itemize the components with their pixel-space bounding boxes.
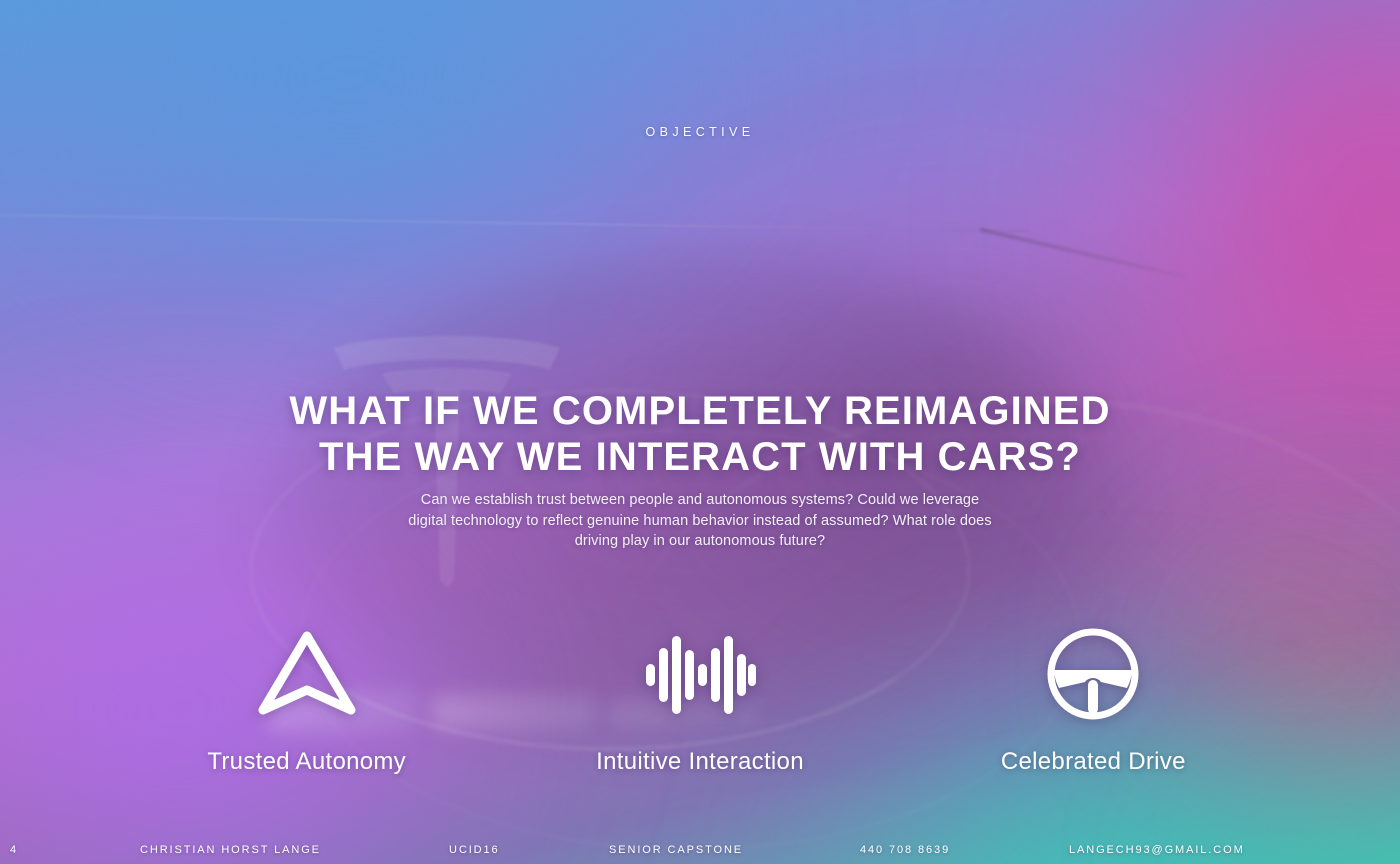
footer-course-code: UCID16 [449,844,500,856]
footer-email: LANGECH93@GMAIL.COM [1069,844,1245,856]
page-number: 4 [10,844,16,856]
pillar-label: Intuitive Interaction [596,748,804,776]
section-eyebrow-label: OBJECTIVE [0,125,1400,139]
slide-footer: 4 CHRISTIAN HORST LANGE UCID16 SENIOR CA… [0,835,1400,864]
pillar-trusted-autonomy: Trusted Autonomy [110,628,503,776]
car-hood-edge-line [0,214,1030,232]
presentation-slide: OBJECTIVE WHAT IF WE COMPLETELY REIMAGIN… [0,0,1400,864]
pillar-label: Trusted Autonomy [207,748,406,776]
navigation-arrow-icon [255,628,359,720]
car-windshield-edge-line [980,228,1185,278]
steering-wheel-icon [1045,628,1141,720]
pillar-intuitive-interaction: Intuitive Interaction [503,628,896,776]
footer-project-type: SENIOR CAPSTONE [609,844,743,856]
slide-subtext: Can we establish trust between people an… [400,490,1000,552]
pillar-celebrated-drive: Celebrated Drive [897,628,1290,776]
pillar-row: Trusted Autonomy [0,628,1400,776]
pillar-label: Celebrated Drive [1001,748,1186,776]
audio-waveform-icon [644,628,756,720]
footer-phone: 440 708 8639 [860,844,950,856]
headline-line-2: THE WAY WE INTERACT WITH CARS? [0,434,1400,480]
footer-author-name: CHRISTIAN HORST LANGE [140,844,321,856]
headline-line-1: WHAT IF WE COMPLETELY REIMAGINED [0,388,1400,434]
slide-headline: WHAT IF WE COMPLETELY REIMAGINED THE WAY… [0,388,1400,480]
